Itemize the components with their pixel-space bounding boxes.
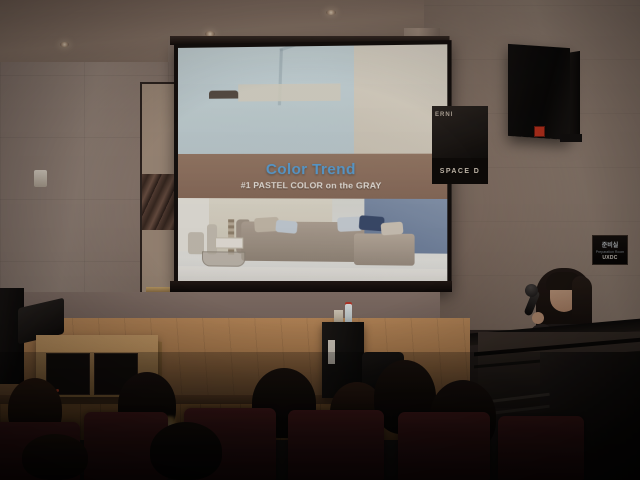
slide-upper-lower-panel: [238, 83, 340, 101]
seat: [498, 416, 584, 480]
presentation-slide: Color Trend #1 PASTEL COLOR on the GRAY: [178, 44, 447, 286]
slide-title: Color Trend: [266, 162, 356, 178]
downlight-1: [60, 42, 69, 47]
auditorium-scene: Color Trend #1 PASTEL COLOR on the GRAY: [0, 0, 640, 480]
slide-sofa-chaise: [354, 234, 414, 266]
wall-speaker-mount: [560, 134, 582, 142]
slide-basket: [202, 251, 246, 266]
wall-speaker-logo-badge: [534, 126, 545, 137]
slide-cushion-2: [275, 219, 297, 233]
wall-banner-bottom: SPACE D: [432, 158, 488, 184]
projection-screen: Color Trend #1 PASTEL COLOR on the GRAY: [174, 40, 452, 291]
slide-dark-object: [209, 91, 238, 99]
wall-banner-bottom-text: SPACE D: [440, 168, 480, 175]
decorative-art-panel: [142, 174, 178, 230]
slide-interior-photo: [178, 198, 447, 286]
room-sign-logo-text: UXDC: [602, 255, 617, 261]
wall-light-fixture: [34, 170, 47, 187]
slide-cushion-5: [381, 222, 404, 236]
seat: [288, 410, 384, 480]
room-sign-english-text: Preparation Room: [596, 250, 624, 254]
slide-card-object: [215, 238, 243, 249]
presenter-hand: [532, 312, 544, 324]
audience-head: [150, 422, 222, 480]
slide-upper-image: [178, 44, 447, 156]
audience-area: [0, 360, 640, 480]
audience-head: [22, 434, 88, 480]
water-bottle: [345, 304, 352, 324]
downlight-4: [326, 10, 336, 15]
seat: [398, 412, 490, 480]
room-sign-korean-text: 준비실: [602, 240, 619, 249]
screen-bottom-frame: [170, 281, 452, 292]
room-sign: 준비실 Preparation Room UXDC: [592, 235, 628, 265]
slide-title-band: Color Trend #1 PASTEL COLOR on the GRAY: [178, 153, 447, 199]
slide-subtitle: #1 PASTEL COLOR on the GRAY: [241, 181, 382, 191]
wall-banner-top-text: ERNI: [432, 112, 453, 118]
wall-banner-top: ERNI: [432, 106, 488, 162]
